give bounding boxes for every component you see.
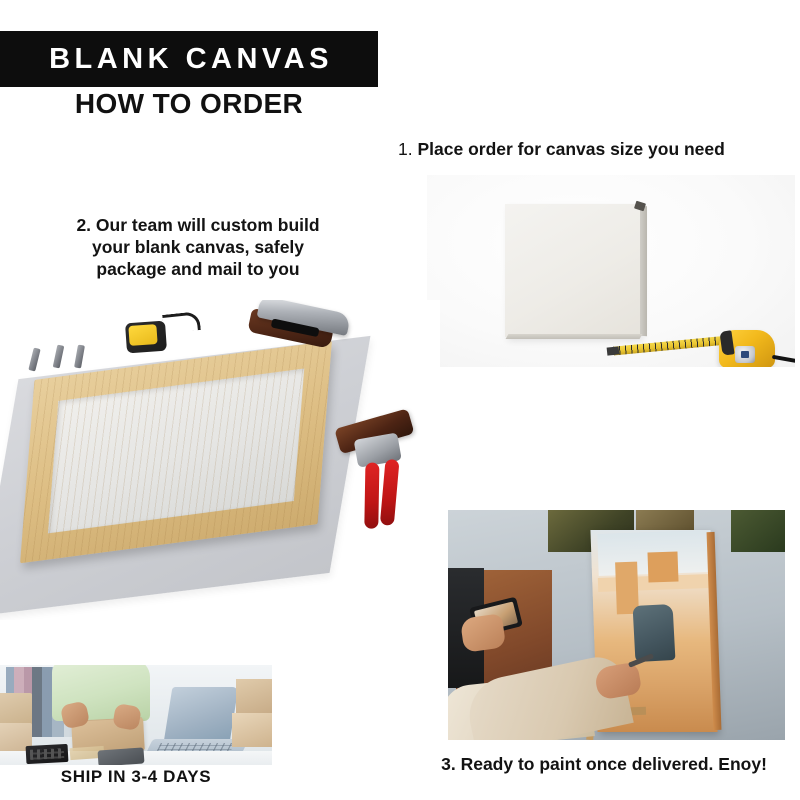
desk-phone [97,747,144,765]
pliers-handle-right [380,459,400,526]
step-2-caption: 2. Our team will custom build your blank… [42,214,354,280]
brand-title: BLANK CANVAS [45,45,333,74]
step-1-number: 1. [398,139,413,159]
painting-figure-shape [633,604,676,662]
pliers-handle-left [364,462,379,528]
step-2-line-1: Our team will custom build [96,215,320,235]
packing-photo [0,665,272,765]
infographic-canvas: BLANK CANVAS HOW TO ORDER 1. Place order… [0,0,800,800]
blank-canvas-photo [427,175,795,367]
step-3-number: 3. [441,754,456,774]
calculator-keys [30,748,64,760]
tape-measure-hub [735,346,755,363]
step-1-text: Place order for canvas size you need [417,139,724,159]
canvas-stretching-pliers [336,415,425,550]
step-3-caption: 3. Ready to paint once delivered. Enoy! [412,753,796,775]
laptop-screen [164,687,239,743]
stacked-box-left-top [0,693,32,727]
painting-building-2 [647,551,678,582]
blank-canvas-front [505,204,640,337]
blank-canvas-bottom-edge [506,334,643,339]
staple-2 [53,345,65,369]
stacked-box-right-bottom [232,713,272,747]
staple-3 [74,345,85,369]
artist-painting-photo [448,510,785,740]
step-3-text: Ready to paint once delivered. Enoy! [461,754,767,774]
stretcher-frame-photo [0,300,440,620]
brand-title-bar: BLANK CANVAS [0,31,378,87]
staple-1 [28,347,40,371]
tape-measure-yellow-face [128,324,157,346]
page-subtitle: HOW TO ORDER [0,89,378,120]
step-2-line-2: your blank canvas, safely [92,237,304,257]
shipping-caption: SHIP IN 3-4 DAYS [0,766,272,787]
hanging-artwork-3 [731,510,785,552]
blank-canvas-side-edge [640,206,647,336]
step-2-number: 2. [76,215,91,235]
step-1-caption: 1. Place order for canvas size you need [398,138,792,160]
tape-measure-cord [162,311,201,334]
step-2-line-3: package and mail to you [96,259,299,279]
tape-measure-end-hook [607,346,620,355]
